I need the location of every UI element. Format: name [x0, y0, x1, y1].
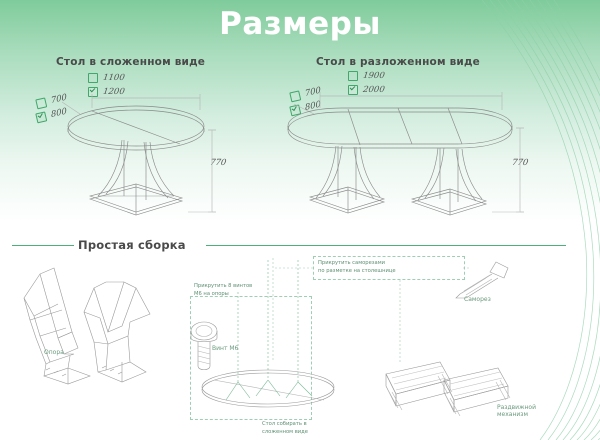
- section-rule-right: [206, 245, 566, 246]
- panel-title-folded: Стол в сложенном виде: [56, 56, 205, 68]
- option-value: 1200: [102, 87, 125, 97]
- page-title: Размеры: [0, 6, 600, 42]
- label-support: Опора: [44, 349, 64, 356]
- checkbox-unchecked-icon[interactable]: [348, 71, 358, 81]
- poster-page: Размеры Стол в сложенном виде Стол в раз…: [0, 0, 600, 440]
- option-value: 700: [305, 85, 322, 99]
- folded-width-options: 1100 1200: [88, 72, 125, 100]
- option-row[interactable]: 1100: [88, 72, 125, 84]
- checkbox-checked-icon[interactable]: [88, 87, 98, 97]
- option-value: 1100: [102, 73, 125, 83]
- label-screw-m6: Винт М6: [212, 345, 238, 352]
- note-assemble-folded: Стол собирать в сложенном виде: [262, 421, 308, 436]
- option-row[interactable]: 1900: [348, 70, 385, 82]
- note-screws: Прикрутить 8 винтов М6 на опоры: [194, 283, 252, 298]
- checkbox-unchecked-icon[interactable]: [88, 73, 98, 83]
- label-slide-mechanism: Раздвижной механизм: [497, 404, 536, 418]
- drawing-oval-table-extended: [280, 100, 530, 220]
- note-self-tapping: Прикрутить саморезами по разметке на сто…: [318, 260, 396, 275]
- option-row[interactable]: 1200: [88, 86, 125, 98]
- option-value: 2000: [362, 85, 385, 95]
- checkbox-checked-icon[interactable]: [348, 85, 358, 95]
- label-self-tapping-screw: Саморез: [464, 296, 491, 303]
- option-value: 1900: [362, 71, 385, 81]
- section-rule-left: [12, 245, 74, 246]
- drawing-round-table-folded: [40, 100, 230, 220]
- panel-title-extended: Стол в разложенном виде: [316, 56, 480, 68]
- option-row[interactable]: 2000: [348, 84, 385, 96]
- extended-width-options: 1900 2000: [348, 70, 385, 98]
